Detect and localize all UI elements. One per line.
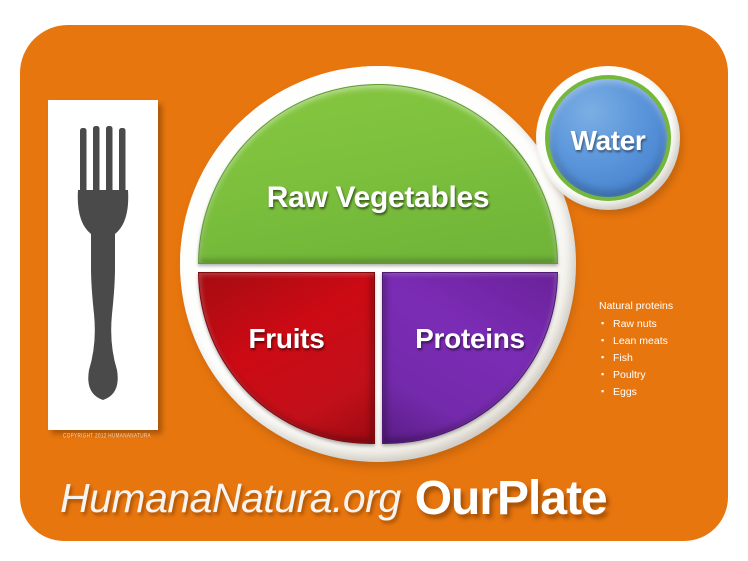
plate-segments: Raw Vegetables Fruits Proteins (198, 84, 558, 444)
segment-fruits[interactable]: Fruits (198, 272, 375, 444)
list-item: Raw nuts (599, 316, 729, 333)
segment-label-raw-vegetables: Raw Vegetables (199, 181, 557, 215)
plate-graphic: Raw Vegetables Fruits Proteins (178, 66, 578, 466)
poster-canvas: COPYRIGHT 2012 HUMANANATURA Raw Vegetabl… (0, 0, 748, 561)
list-item: Poultry (599, 367, 729, 384)
segment-label-fruits: Fruits (199, 323, 374, 355)
water-glass[interactable]: Water (534, 64, 690, 216)
protein-note: Natural proteins Raw nuts Lean meats Fis… (599, 298, 729, 401)
protein-note-title: Natural proteins (599, 298, 729, 314)
list-item: Lean meats (599, 333, 729, 350)
segment-proteins[interactable]: Proteins (382, 272, 558, 444)
protein-note-list: Raw nuts Lean meats Fish Poultry Eggs (599, 316, 729, 401)
product-title: OurPlate (415, 471, 607, 526)
copyright-text: COPYRIGHT 2012 HUMANANATURA (48, 432, 166, 439)
segment-raw-vegetables[interactable]: Raw Vegetables (198, 84, 558, 264)
water-fill: Water (549, 79, 667, 197)
list-item: Eggs (599, 384, 729, 401)
wordmark: HumanaNatura.org OurPlate (60, 470, 680, 526)
list-item: Fish (599, 350, 729, 367)
segment-label-proteins: Proteins (383, 323, 557, 355)
brand-text: HumanaNatura.org (60, 475, 401, 522)
fork-icon (63, 118, 143, 418)
water-label: Water (549, 125, 667, 157)
